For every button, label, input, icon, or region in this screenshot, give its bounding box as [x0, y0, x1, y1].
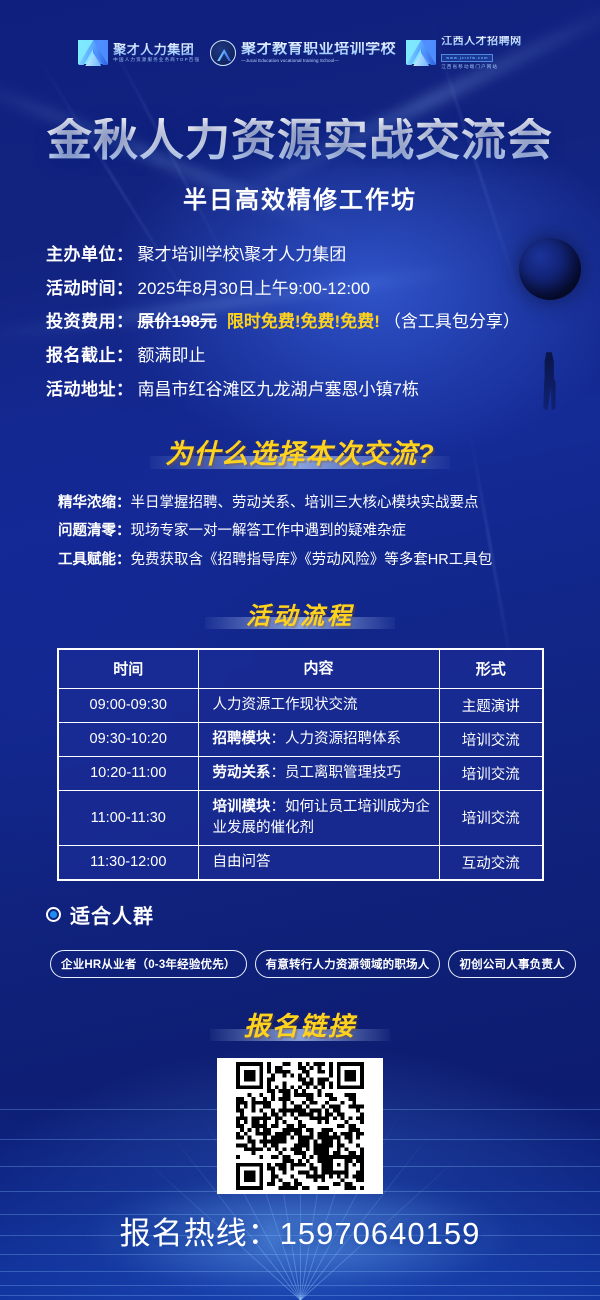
table-header-row: 时间 内容 形式: [58, 649, 543, 688]
table-row: 10:20-11:00 劳动关系：员工离职管理技巧 培训交流: [58, 756, 543, 790]
info-row-organizer: 主办单位： 聚才培训学校\聚才人力集团: [46, 243, 566, 268]
logo-jucai-hr-group: 聚才人力集团 中国人力资源服务业务商TOP百强: [78, 40, 200, 66]
why-list: 精华浓缩：半日掌握招聘、劳动关系、培训三大核心模块实战要点 问题清零：现场专家一…: [58, 492, 558, 577]
col-header-format: 形式: [439, 649, 543, 688]
info-row-datetime: 活动时间： 2025年8月30日上午9:00-12:00: [46, 277, 566, 302]
qr-code-container[interactable]: [217, 1058, 383, 1194]
why-item-label: 问题清零：: [58, 523, 131, 539]
why-item-label: 工具赋能：: [58, 552, 131, 568]
cell-format: 培训交流: [439, 756, 543, 790]
audience-tag: 初创公司人事负责人: [448, 950, 575, 978]
event-info-list: 主办单位： 聚才培训学校\聚才人力集团 活动时间： 2025年8月30日上午9:…: [46, 243, 566, 411]
why-item-text: 半日掌握招聘、劳动关系、培训三大核心模块实战要点: [131, 495, 479, 511]
page-subtitle: 半日高效精修工作坊: [0, 180, 600, 215]
info-value: 额满即止: [138, 344, 206, 369]
col-header-content: 内容: [198, 649, 439, 688]
table-row: 11:00-11:30 培训模块：如何让员工培训成为企业发展的催化剂 培训交流: [58, 790, 543, 845]
info-label: 主办单位：: [46, 243, 134, 268]
logo-url: www.jxrcfw.com: [441, 54, 493, 62]
section-heading-text: 适合人群: [70, 900, 154, 929]
mountain-logo-icon: [406, 40, 436, 66]
cell-time: 11:30-12:00: [58, 845, 198, 880]
cell-time: 09:30-10:20: [58, 722, 198, 756]
info-label: 报名截止：: [46, 344, 134, 369]
audience-tag: 企业HR从业者（0-3年经验优先）: [50, 950, 247, 978]
section-heading-text: 活动流程: [246, 603, 354, 630]
table-row: 09:30-10:20 招聘模块：人力资源招聘体系 培训交流: [58, 722, 543, 756]
free-promo-badge: 限时免费!免费!免费!: [227, 310, 380, 335]
why-item-text: 免费获取含《招聘指导库》《劳动风险》等多套HR工具包: [131, 552, 493, 568]
logo-jucai-training-school: 聚才教育职业培训学校 —Jucai Education vocational t…: [210, 40, 396, 66]
qr-code-image[interactable]: [236, 1062, 364, 1190]
info-value: 2025年8月30日上午9:00-12:00: [138, 277, 370, 302]
cell-content: 培训模块：如何让员工培训成为企业发展的催化剂: [198, 790, 439, 845]
cell-time: 11:00-11:30: [58, 790, 198, 845]
cell-content: 人力资源工作现状交流: [198, 688, 439, 722]
logo-name: 聚才人力集团: [113, 43, 200, 56]
why-item-label: 精华浓缩：: [58, 495, 131, 511]
mountain-logo-icon: [78, 40, 108, 66]
cell-format: 培训交流: [439, 790, 543, 845]
logo-bar: 聚才人力集团 中国人力资源服务业务商TOP百强 聚才教育职业培训学校 —Juca…: [0, 26, 600, 80]
info-value: 南昌市红谷滩区九龙湖卢塞恩小镇7栋: [138, 378, 419, 403]
info-row-price: 投资费用： 原价198元 限时免费!免费!免费! （含工具包分享）: [46, 310, 566, 335]
info-label: 活动地址：: [46, 378, 134, 403]
cell-content: 劳动关系：员工离职管理技巧: [198, 756, 439, 790]
logo-name: 聚才教育职业培训学校: [241, 42, 396, 57]
section-heading-why: 为什么选择本次交流?: [0, 432, 600, 471]
cell-content: 招聘模块：人力资源招聘体系: [198, 722, 439, 756]
cell-content: 自由问答: [198, 845, 439, 880]
cell-format: 互动交流: [439, 845, 543, 880]
section-heading-audience: 适合人群: [46, 900, 154, 929]
original-price: 原价198元: [138, 310, 217, 335]
cell-format: 培训交流: [439, 722, 543, 756]
table-row: 11:30-12:00 自由问答 互动交流: [58, 845, 543, 880]
col-header-time: 时间: [58, 649, 198, 688]
table-row: 09:00-09:30 人力资源工作现状交流 主题演讲: [58, 688, 543, 722]
logo-name: 江西人才招聘网: [441, 36, 522, 47]
why-item: 工具赋能：免费获取含《招聘指导库》《劳动风险》等多套HR工具包: [58, 549, 558, 572]
seal-logo-icon: [210, 40, 236, 66]
why-item: 问题清零：现场专家一对一解答工作中遇到的疑难杂症: [58, 520, 558, 543]
circle-bullet-icon: [46, 907, 61, 922]
logo-subline: 江西省移动端门户网站: [441, 65, 522, 70]
price-note: （含工具包分享）: [384, 310, 520, 335]
audience-tag-list: 企业HR从业者（0-3年经验优先） 有意转行人力资源领域的职场人 初创公司人事负…: [50, 950, 550, 978]
why-item: 精华浓缩：半日掌握招聘、劳动关系、培训三大核心模块实战要点: [58, 492, 558, 515]
page-title: 金秋人力资源实战交流会: [0, 118, 600, 163]
info-row-address: 活动地址： 南昌市红谷滩区九龙湖卢塞恩小镇7栋: [46, 378, 566, 403]
section-heading-signup: 报名链接: [0, 1006, 600, 1043]
info-label: 活动时间：: [46, 277, 134, 302]
audience-tag: 有意转行人力资源领域的职场人: [255, 950, 441, 978]
logo-jiangxi-talent-net: 江西人才招聘网 www.jxrcfw.com 江西省移动端门户网站: [406, 36, 522, 70]
cell-time: 10:20-11:00: [58, 756, 198, 790]
why-item-text: 现场专家一对一解答工作中遇到的疑难杂症: [131, 523, 407, 539]
cell-time: 09:00-09:30: [58, 688, 198, 722]
logo-subline: —Jucai Education vocational training Sch…: [241, 59, 396, 64]
logo-subline: 中国人力资源服务业务商TOP百强: [113, 58, 200, 63]
section-heading-text: 报名链接: [244, 1011, 356, 1041]
section-heading-text: 为什么选择本次交流?: [165, 439, 435, 469]
hotline-text: 报名热线：15970640159: [0, 1208, 600, 1253]
info-value: 聚才培训学校\聚才人力集团: [138, 243, 347, 268]
info-label: 投资费用：: [46, 310, 134, 335]
info-row-deadline: 报名截止： 额满即止: [46, 344, 566, 369]
schedule-table: 时间 内容 形式 09:00-09:30 人力资源工作现状交流 主题演讲 09:…: [57, 648, 544, 881]
cell-format: 主题演讲: [439, 688, 543, 722]
section-heading-schedule: 活动流程: [0, 596, 600, 631]
